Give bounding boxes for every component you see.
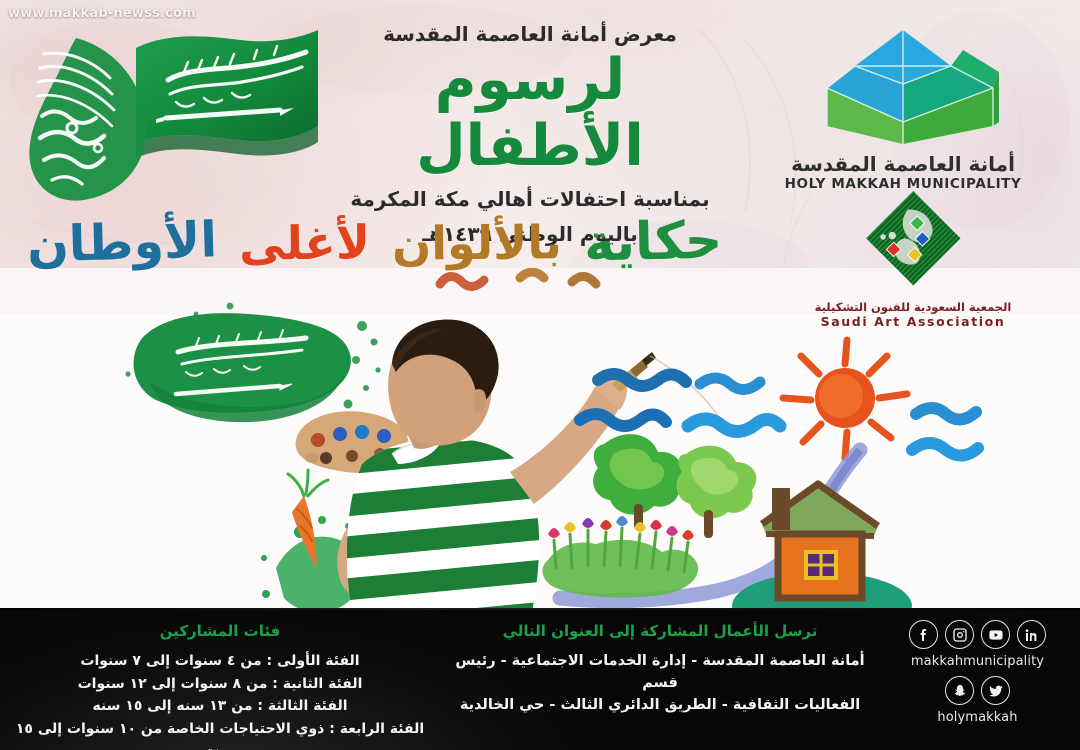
twitter-icon[interactable] — [981, 676, 1010, 705]
footer-address-column: ترسل الأعمال المشاركة إلى العنوان التالي… — [445, 608, 875, 750]
category-item-1: الفئة الأولى : من ٤ سنوات إلى ٧ سنوات — [0, 650, 440, 673]
categories-heading: فئات المشاركين — [0, 622, 440, 640]
makkah-logo-name-ar: أمانة العاصمة المقدسة — [768, 152, 1038, 176]
saa-logo-name-en: Saudi Art Association — [788, 314, 1038, 329]
faceted-pyramid-logo-icon — [803, 26, 1003, 146]
linkedin-icon[interactable] — [1017, 620, 1046, 649]
sun-drawing — [783, 340, 907, 458]
holy-makkah-municipality-logo: أمانة العاصمة المقدسة HOLY MAKKAH MUNICI… — [768, 26, 1038, 192]
social-handle-secondary: holymakkah — [875, 710, 1080, 725]
category-item-2: الفئة الثانية : من ٨ سنوات إلى ١٢ سنوات — [0, 673, 440, 696]
saa-logo-name-ar: الجمعية السعودية للفنون التشكيلية — [788, 300, 1038, 314]
poster-footer: makkahmunicipality holymakkah ترسل الأعم… — [0, 608, 1080, 750]
facebook-icon[interactable] — [909, 620, 938, 649]
social-row-secondary — [875, 676, 1080, 705]
header-main-title: لرسوم الأطفال — [330, 48, 730, 179]
headline-word-4: الأوطان — [27, 211, 219, 273]
headline-word-2: بالألوان — [392, 215, 562, 270]
instagram-icon[interactable] — [945, 620, 974, 649]
header-occasion-line1: بمناسبة احتفالات أهالي مكة المكرمة — [330, 185, 730, 214]
category-item-3: الفئة الثالثة : من ١٣ سنه إلى ١٥ سنه — [0, 695, 440, 718]
category-item-4: الفئة الرابعة : ذوي الاحتياجات الخاصة من… — [0, 718, 440, 750]
header-subtitle-top: معرض أمانة العاصمة المقدسة — [330, 22, 730, 46]
footer-categories-column: فئات المشاركين الفئة الأولى : من ٤ سنوات… — [0, 608, 440, 750]
youtube-icon[interactable] — [981, 620, 1010, 649]
snapchat-icon[interactable] — [945, 676, 974, 705]
address-line-1: أمانة العاصمة المقدسة - إدارة الخدمات ال… — [445, 650, 875, 694]
address-heading: ترسل الأعمال المشاركة إلى العنوان التالي — [445, 622, 875, 640]
address-line-2: الفعاليات الثقافية - الطريق الدائري الثا… — [445, 694, 875, 716]
social-handle-primary: makkahmunicipality — [875, 654, 1080, 669]
poster-headline: حكاية بالألوان لأغلى الأوطان — [0, 212, 1080, 272]
footer-social-column: makkahmunicipality holymakkah — [875, 608, 1080, 750]
headline-word-3: لأغلى — [239, 215, 371, 271]
headline-word-1: حكاية — [584, 211, 724, 274]
poster-root: www.makkab-newss.com — [0, 0, 1080, 750]
flag-svg — [18, 18, 328, 213]
social-row-primary — [875, 620, 1080, 649]
watermark-text: www.makkab-newss.com — [8, 6, 196, 21]
saudi-flag-graphic — [18, 18, 328, 213]
